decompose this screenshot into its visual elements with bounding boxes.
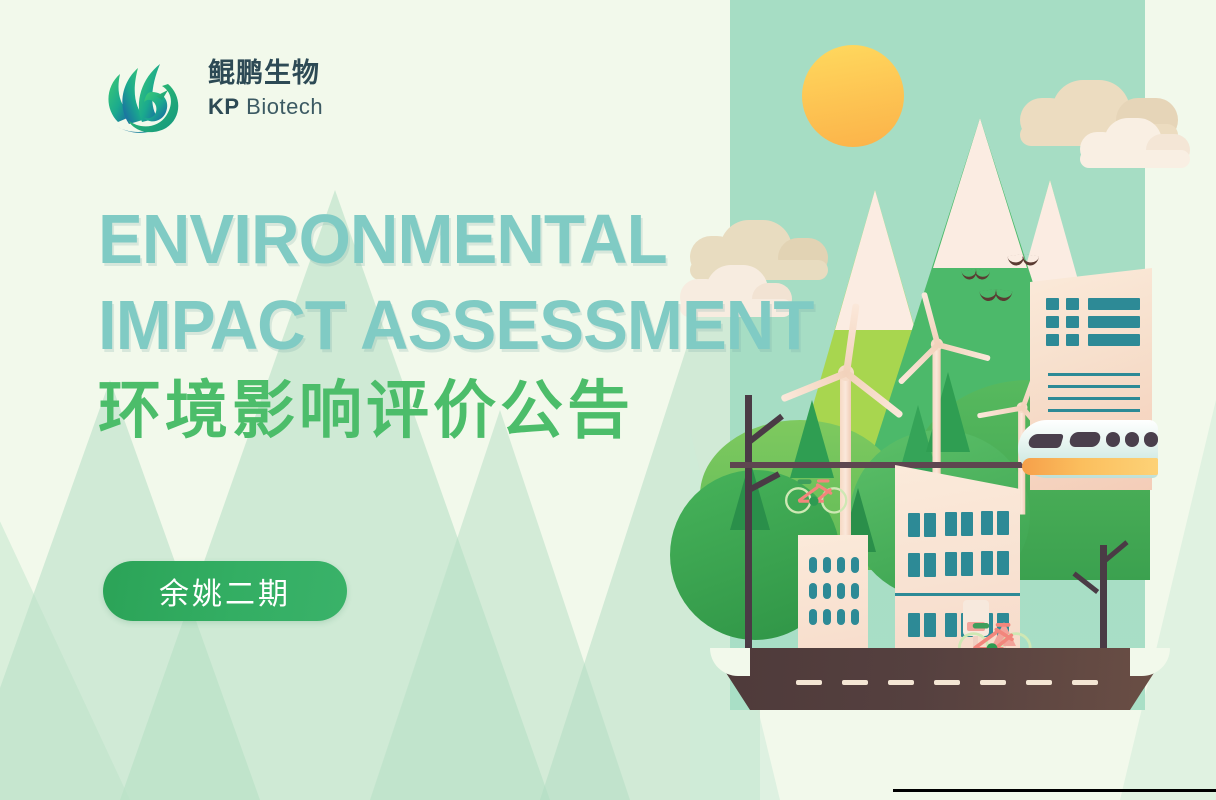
brand-name-en-rest: Biotech xyxy=(240,94,324,119)
bottom-divider xyxy=(893,789,1216,792)
page-title: ENVIRONMENTAL IMPACT ASSESSMENT xyxy=(98,196,847,368)
brand-name-en: KP Biotech xyxy=(208,96,323,118)
phoenix-swirl-logo-icon xyxy=(96,56,196,142)
brand-name-en-bold: KP xyxy=(208,94,240,119)
page-subtitle: 环境影响评价公告 xyxy=(98,375,634,447)
small-building xyxy=(798,535,868,710)
headline-line-1: ENVIRONMENTAL xyxy=(98,200,667,278)
headline-line-2: IMPACT ASSESSMENT xyxy=(98,282,847,368)
banner-canvas: 鲲鹏生物 KP Biotech ENVIRONMENTAL IMPACT ASS… xyxy=(0,0,1216,800)
brand-logo[interactable]: 鲲鹏生物 KP Biotech xyxy=(96,56,396,142)
bg-mountain-5 xyxy=(0,500,130,800)
mountain-center-snowcap xyxy=(933,118,1027,268)
status-badge-label: 余姚二期 xyxy=(159,569,291,613)
brand-name-cn: 鲲鹏生物 xyxy=(208,60,320,87)
status-badge[interactable]: 余姚二期 xyxy=(103,561,347,621)
